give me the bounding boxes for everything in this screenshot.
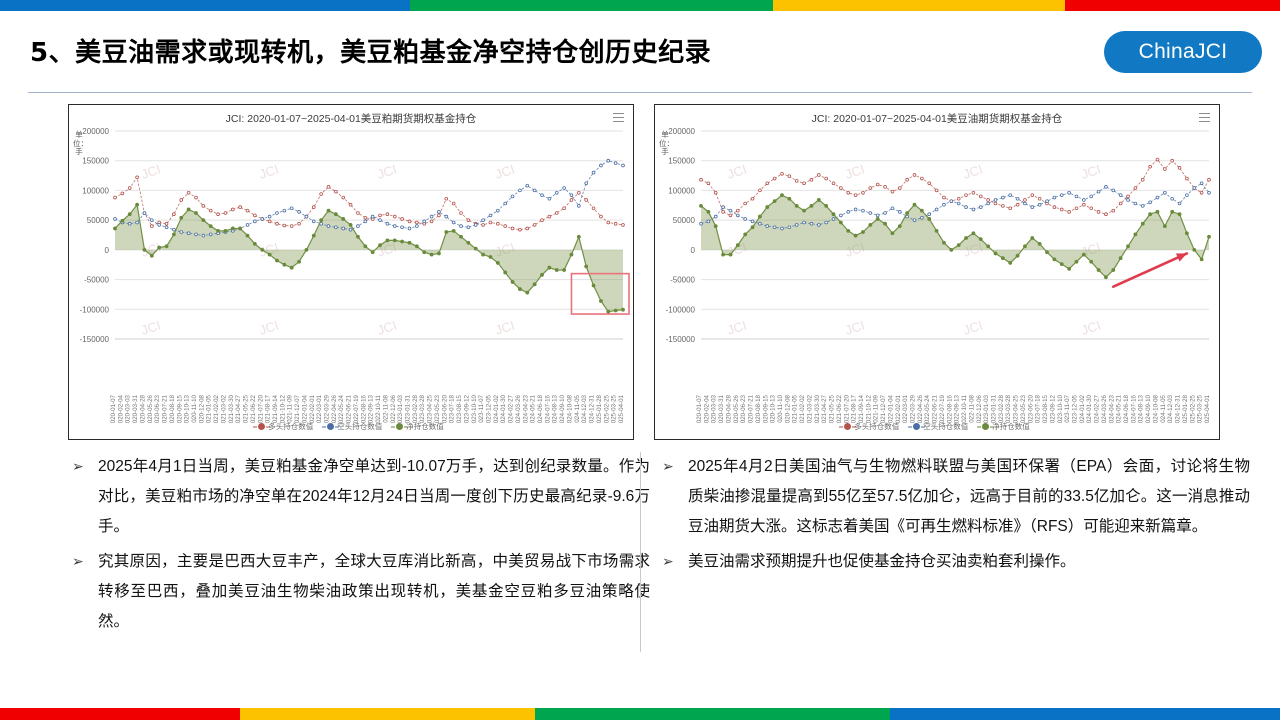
x-axis-tick-label: 2020-02-04: [703, 394, 710, 423]
x-axis-tick-label: 2022-03-29: [910, 394, 917, 423]
series-point: [585, 182, 588, 185]
series-point: [276, 222, 279, 225]
legend-marker: [258, 423, 265, 430]
y-axis-tick-label: -50000: [84, 276, 109, 285]
series-point: [327, 185, 330, 188]
series-point: [121, 192, 124, 195]
series-point: [172, 233, 175, 236]
x-axis-tick-label: 2022-01-04: [887, 394, 894, 423]
series-point: [592, 207, 595, 210]
series-point: [158, 246, 161, 249]
series-point: [622, 308, 625, 311]
series-point: [928, 182, 931, 185]
series-point: [577, 191, 580, 194]
series-point: [202, 204, 205, 207]
bullet-arrow-icon: ➢: [72, 455, 84, 477]
y-axis-tick-label: 100000: [668, 186, 695, 195]
series-point: [943, 203, 946, 206]
x-axis-tick-label: 2023-07-18: [1035, 394, 1042, 423]
series-point: [467, 241, 470, 244]
series-point: [548, 215, 551, 218]
legend-item[interactable]: 空头持仓数值: [327, 421, 382, 432]
series-point: [526, 184, 529, 187]
series-point: [1186, 177, 1189, 180]
series-point: [825, 221, 828, 224]
series-point: [312, 206, 315, 209]
x-axis-tick-label: 2025-02-25: [603, 394, 610, 423]
series-point: [1053, 258, 1056, 261]
series-point: [415, 245, 418, 248]
series-point: [482, 219, 485, 222]
series-point: [1031, 194, 1034, 197]
series-point: [1208, 235, 1211, 238]
series-point: [253, 220, 256, 223]
series-point: [1001, 204, 1004, 207]
series-point: [1082, 253, 1085, 256]
series-point: [246, 234, 249, 237]
series-point: [224, 212, 227, 215]
series-point: [898, 187, 901, 190]
series-point: [268, 215, 271, 218]
series-point: [445, 215, 448, 218]
chart-card-soyoil[interactable]: JCI: 2020-01-07~2025-04-01美豆油期货期权基金持仓单位：…: [654, 104, 1220, 440]
series-point: [773, 200, 776, 203]
series-point: [136, 176, 139, 179]
x-axis-tick-label: 2021-02-02: [799, 394, 806, 423]
series-point: [803, 209, 806, 212]
y-axis-tick-label: 150000: [82, 157, 109, 166]
series-point: [972, 191, 975, 194]
series-point: [957, 197, 960, 200]
x-axis-tick-label: 2023-01-31: [404, 394, 411, 423]
series-point: [614, 162, 617, 165]
series-point: [334, 190, 337, 193]
series-point: [320, 219, 323, 222]
y-axis-tick-label: 150000: [668, 157, 695, 166]
series-point: [854, 234, 857, 237]
x-axis-tick-label: 2023-04-25: [1013, 394, 1020, 423]
series-point: [489, 255, 492, 258]
x-axis-tick-label: 2023-09-12: [1049, 394, 1056, 423]
x-axis-tick-label: 2021-11-09: [287, 394, 294, 423]
series-point: [577, 204, 580, 207]
y-axis-tick-label: -100000: [666, 305, 696, 314]
series-point: [1163, 225, 1166, 228]
series-point: [246, 209, 249, 212]
series-point: [121, 219, 124, 222]
x-axis-tick-label: 2021-09-14: [858, 394, 865, 423]
series-point: [393, 225, 396, 228]
series-point: [788, 175, 791, 178]
series-point: [585, 265, 588, 268]
series-point: [744, 233, 747, 236]
x-axis-tick-label: 2020-04-28: [139, 394, 146, 423]
x-axis-tick-label: 2020-03-31: [132, 394, 139, 423]
legend-marker: [327, 423, 334, 430]
series-point: [180, 199, 183, 202]
series-point: [1001, 196, 1004, 199]
x-axis-tick-label: 2023-08-15: [1042, 394, 1049, 423]
series-point: [1208, 178, 1211, 181]
x-axis-tick-label: 2021-05-25: [243, 394, 250, 423]
series-point: [379, 219, 382, 222]
series-point: [1009, 194, 1012, 197]
series-point: [1082, 199, 1085, 202]
series-point: [736, 209, 739, 212]
x-axis-tick-label: 2021-01-05: [206, 394, 213, 423]
color-bar-segment: [890, 708, 1280, 720]
series-point: [884, 185, 887, 188]
series-point: [519, 189, 522, 192]
series-point: [261, 248, 264, 251]
x-axis-tick-label: 2020-01-07: [696, 394, 703, 423]
series-point: [1075, 195, 1078, 198]
series-point: [928, 213, 931, 216]
series-point: [766, 182, 769, 185]
page-title: 5、美豆油需求或现转机，美豆粕基金净空持仓创历史纪录: [30, 32, 711, 69]
series-point: [780, 194, 783, 197]
series-point: [876, 214, 879, 217]
series-point: [714, 191, 717, 194]
series-point: [1156, 196, 1159, 199]
series-point: [994, 202, 997, 205]
x-axis-tick-label: 2023-01-03: [983, 394, 990, 423]
series-point: [847, 210, 850, 213]
x-axis-tick-label: 2022-06-21: [932, 394, 939, 423]
series-point: [928, 217, 931, 220]
chart-plot-area: 200000150000100000500000-50000-100000-15…: [655, 123, 1221, 423]
series-point: [445, 231, 448, 234]
y-axis-tick-label: 200000: [668, 127, 695, 136]
series-point: [128, 187, 131, 190]
series-point: [386, 213, 389, 216]
series-point: [194, 212, 197, 215]
series-point: [496, 261, 499, 264]
series-point: [253, 214, 256, 217]
series-point: [1001, 257, 1004, 260]
series-point: [165, 245, 168, 248]
x-axis-tick-label: 2020-07-21: [748, 394, 755, 423]
series-point: [1178, 213, 1181, 216]
series-point: [1097, 190, 1100, 193]
x-axis-tick-label: 2022-03-29: [324, 394, 331, 423]
x-axis-tick-label: 2024-05-21: [1116, 394, 1123, 423]
series-point: [1163, 191, 1166, 194]
series-point: [920, 177, 923, 180]
x-axis-tick-label: 2020-03-03: [711, 394, 718, 423]
x-axis-tick-label: 2021-08-17: [851, 394, 858, 423]
series-point: [1112, 269, 1115, 272]
x-axis-tick-label: 2021-10-12: [279, 394, 286, 423]
slide-root: 5、美豆油需求或现转机，美豆粕基金净空持仓创历史纪录 ChinaJCI JCI:…: [0, 0, 1280, 720]
series-point: [751, 226, 754, 229]
series-point: [810, 178, 813, 181]
x-axis-tick-label: 2025-04-01: [1204, 394, 1211, 423]
color-bar-segment: [410, 0, 773, 11]
series-point: [349, 228, 352, 231]
series-point: [1134, 233, 1137, 236]
series-point: [312, 234, 315, 237]
x-axis-tick-label: 2024-07-16: [1130, 394, 1137, 423]
x-axis-tick-label: 2021-03-30: [228, 394, 235, 423]
series-point: [253, 242, 256, 245]
legend-item[interactable]: 净持仓数值: [982, 421, 1030, 432]
series-point: [1038, 203, 1041, 206]
series-point: [1097, 269, 1100, 272]
color-bar-segment: [0, 0, 410, 11]
x-axis-tick-label: 2024-09-10: [559, 394, 566, 423]
series-point: [452, 221, 455, 224]
series-point: [305, 248, 308, 251]
legend-label: 空头持仓数值: [337, 421, 382, 432]
series-point: [1038, 242, 1041, 245]
series-point: [180, 231, 183, 234]
y-axis-tick-label: -100000: [80, 305, 110, 314]
series-point: [290, 266, 293, 269]
series-point: [356, 235, 359, 238]
x-axis-tick-label: 2022-02-01: [309, 394, 316, 423]
x-axis-tick-label: 2022-01-04: [301, 394, 308, 423]
x-axis-tick-label: 2020-11-10: [777, 394, 784, 423]
series-point: [298, 210, 301, 213]
x-axis-tick-label: 2024-03-26: [1101, 394, 1108, 423]
series-point: [817, 224, 820, 227]
x-axis-tick-label: 2022-05-24: [338, 394, 345, 423]
x-axis-tick-label: 2023-06-20: [441, 394, 448, 423]
series-point: [364, 220, 367, 223]
series-point: [795, 204, 798, 207]
series-point: [555, 191, 558, 194]
series-point: [209, 209, 212, 212]
series-point: [622, 164, 625, 167]
series-point: [150, 254, 153, 257]
series-point: [423, 251, 426, 254]
series-point: [526, 227, 529, 230]
series-point: [876, 217, 879, 220]
chart-legend: 多头持仓数值空头持仓数值净持仓数值: [69, 421, 633, 432]
series-point: [298, 260, 301, 263]
color-bar-segment: [535, 708, 890, 720]
series-point: [847, 191, 850, 194]
series-point: [467, 226, 470, 229]
series-point: [979, 195, 982, 198]
series-point: [861, 231, 864, 234]
x-axis-tick-label: 2022-09-13: [368, 394, 375, 423]
series-point: [773, 226, 776, 229]
series-point: [729, 253, 732, 256]
x-axis-tick-label: 2023-01-31: [990, 394, 997, 423]
x-axis-tick-label: 2022-12-06: [390, 394, 397, 423]
x-axis-tick-label: 2023-03-28: [419, 394, 426, 423]
x-axis-tick-label: 2024-01-30: [500, 394, 507, 423]
series-point: [541, 273, 544, 276]
series-point: [839, 214, 842, 217]
x-axis-tick-label: 2024-12-03: [1167, 394, 1174, 423]
series-point: [349, 223, 352, 226]
series-point: [482, 253, 485, 256]
series-point: [722, 206, 725, 209]
series-point: [773, 177, 776, 180]
series-point: [759, 222, 762, 225]
series-point: [231, 227, 234, 230]
color-bar-segment: [773, 0, 1065, 11]
series-point: [1105, 213, 1108, 216]
x-axis-tick-label: 2022-05-24: [924, 394, 931, 423]
bullet-item: ➢美豆油需求预期提升也促使基金持仓买油卖粕套利操作。: [650, 547, 1250, 577]
series-point: [1119, 194, 1122, 197]
series-point: [511, 280, 514, 283]
series-point: [913, 203, 916, 206]
x-axis-tick-label: 2024-01-30: [1086, 394, 1093, 423]
series-point: [987, 245, 990, 248]
series-point: [862, 209, 865, 212]
series-point: [810, 222, 813, 225]
series-point: [1171, 197, 1174, 200]
y-axis-tick-label: 0: [105, 246, 110, 255]
x-axis-tick-label: 2022-07-19: [939, 394, 946, 423]
series-point: [467, 219, 470, 222]
series-point: [979, 238, 982, 241]
series-point: [1193, 187, 1196, 190]
series-point: [1141, 178, 1144, 181]
series-point: [143, 248, 146, 251]
series-point: [231, 208, 234, 211]
series-point: [1024, 199, 1027, 202]
bullet-arrow-icon: ➢: [662, 455, 674, 477]
legend-item[interactable]: 多头持仓数值: [258, 421, 313, 432]
series-point: [751, 197, 754, 200]
series-point: [736, 244, 739, 247]
series-point: [869, 187, 872, 190]
series-point: [1208, 191, 1211, 194]
x-axis-tick-label: 2021-08-17: [265, 394, 272, 423]
series-point: [869, 223, 872, 226]
x-axis-tick-label: 2021-03-02: [220, 394, 227, 423]
series-point: [541, 219, 544, 222]
series-point: [371, 251, 374, 254]
x-axis-tick-label: 2020-04-28: [725, 394, 732, 423]
series-point: [460, 235, 463, 238]
y-axis-tick-label: 50000: [673, 216, 696, 225]
series-point: [555, 212, 558, 215]
x-axis-tick-label: 2024-09-10: [1145, 394, 1152, 423]
x-axis-tick-label: 2022-02-01: [895, 394, 902, 423]
series-point: [526, 291, 529, 294]
x-axis-tick-label: 2024-06-18: [1123, 394, 1130, 423]
series-point: [533, 283, 536, 286]
series-point: [585, 199, 588, 202]
series-point: [474, 224, 477, 227]
series-point: [246, 224, 249, 227]
x-axis-tick-label: 2024-12-31: [1175, 394, 1182, 423]
series-point: [386, 222, 389, 225]
legend-marker: [913, 423, 920, 430]
y-axis-tick-label: 200000: [82, 127, 109, 136]
x-axis-tick-label: 2022-11-08: [382, 394, 389, 423]
series-point: [817, 198, 820, 201]
series-point: [906, 178, 909, 181]
bullet-text: 美豆油需求预期提升也促使基金持仓买油卖粕套利操作。: [688, 547, 1250, 577]
series-point: [393, 215, 396, 218]
series-point: [825, 204, 828, 207]
hamburger-menu-icon[interactable]: [1199, 113, 1210, 122]
series-point: [150, 219, 153, 222]
series-point: [1075, 207, 1078, 210]
series-point: [415, 221, 418, 224]
series-point: [854, 208, 857, 211]
series-point: [1104, 276, 1107, 279]
series-point: [1090, 207, 1093, 210]
series-point: [298, 222, 301, 225]
series-point: [1060, 208, 1063, 211]
x-axis-tick-label: 2021-03-30: [814, 394, 821, 423]
series-point: [217, 229, 220, 232]
x-axis-tick-label: 2022-10-11: [375, 394, 382, 423]
series-point: [408, 227, 411, 230]
x-axis-tick-label: 2023-05-23: [1020, 394, 1027, 423]
x-axis-tick-label: 2022-04-26: [331, 394, 338, 423]
series-point: [548, 197, 551, 200]
legend-item[interactable]: 空头持仓数值: [913, 421, 968, 432]
series-point: [600, 164, 603, 167]
series-point: [217, 213, 220, 216]
series-point: [1068, 267, 1071, 270]
x-axis-tick-label: 2023-01-03: [397, 394, 404, 423]
series-point: [592, 284, 595, 287]
series-point: [622, 224, 625, 227]
series-point: [386, 239, 389, 242]
x-axis-tick-label: 2020-12-08: [198, 394, 205, 423]
series-point: [430, 215, 433, 218]
series-point: [1046, 200, 1049, 203]
slide-header: 5、美豆油需求或现转机，美豆粕基金净空持仓创历史纪录 ChinaJCI: [0, 32, 1280, 90]
column-divider: [640, 452, 641, 652]
x-axis-tick-label: 2020-03-31: [718, 394, 725, 423]
x-axis-tick-label: 2023-09-12: [463, 394, 470, 423]
series-point: [839, 221, 842, 224]
series-point: [349, 203, 352, 206]
series-point: [1068, 210, 1071, 213]
series-point: [1186, 194, 1189, 197]
series-point: [489, 214, 492, 217]
legend-item[interactable]: 多头持仓数值: [844, 421, 899, 432]
x-axis-tick-label: 2024-08-13: [552, 394, 559, 423]
x-axis-tick-label: 2020-09-15: [762, 394, 769, 423]
chart-card-soymeal[interactable]: JCI: 2020-01-07~2025-04-01美豆粕期货期权基金持仓单位：…: [68, 104, 634, 440]
series-point: [570, 199, 573, 202]
series-point: [1068, 191, 1071, 194]
series-point: [832, 182, 835, 185]
series-point: [327, 225, 330, 228]
x-axis-tick-label: 2024-06-18: [537, 394, 544, 423]
color-bar-segment: [0, 708, 240, 720]
series-point: [563, 269, 566, 272]
x-axis-tick-label: 2025-04-01: [618, 394, 625, 423]
series-point: [803, 221, 806, 224]
series-point: [847, 229, 850, 232]
series-point: [957, 202, 960, 205]
series-point: [504, 202, 507, 205]
x-axis-tick-label: 2023-02-28: [998, 394, 1005, 423]
y-axis-tick-label: 50000: [87, 216, 110, 225]
x-axis-tick-label: 2024-11-05: [574, 394, 581, 423]
legend-item[interactable]: 净持仓数值: [396, 421, 444, 432]
series-point: [810, 204, 813, 207]
series-point: [430, 253, 433, 256]
x-axis-tick-label: 2020-05-26: [147, 394, 154, 423]
series-point: [965, 206, 968, 209]
hamburger-menu-icon[interactable]: [613, 113, 624, 122]
